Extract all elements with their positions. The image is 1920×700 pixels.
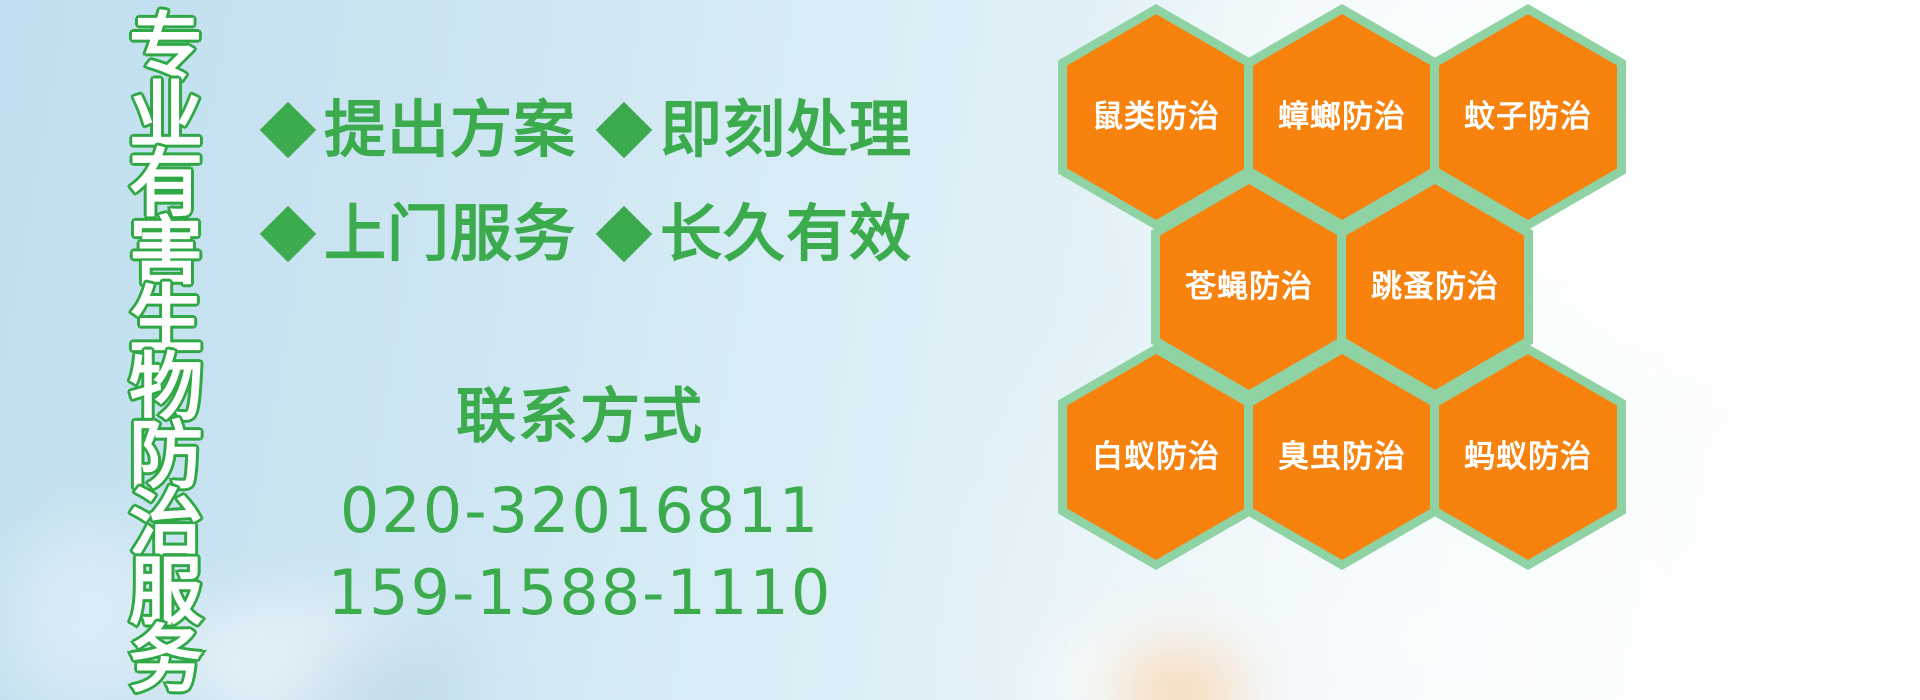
feature-label: 长久有效 [660, 203, 912, 265]
contact-block: 联系方式 020-32016811 159-1588-1110 [290, 382, 870, 634]
diamond-bullet-icon [260, 102, 317, 159]
feature-label: 即刻处理 [660, 99, 912, 161]
hex-fill: 鼠类防治 [1067, 14, 1245, 220]
headline-char: 务 [129, 626, 203, 694]
promo-banner: 专 业 有 害 生 物 防 治 服 务 提出方案 即刻处理 上门服务 [0, 0, 1920, 700]
feature-row: 上门服务 长久有效 [268, 182, 888, 286]
headline-char: 物 [129, 354, 203, 422]
feature-item-immediate-handling: 即刻处理 [604, 99, 912, 161]
feature-item-onsite-service: 上门服务 [268, 203, 576, 265]
service-label: 鼠类防治 [1092, 100, 1220, 134]
service-label: 跳蚤防治 [1371, 270, 1499, 304]
feature-row: 提出方案 即刻处理 [268, 78, 888, 182]
service-label: 苍蝇防治 [1185, 270, 1313, 304]
headline-char: 有 [129, 150, 203, 218]
headline-char: 生 [129, 286, 203, 354]
service-honeycomb: 鼠类防治 蟑螂防治 蚊子防治 苍蝇防治 跳蚤防治 白蚁防治 [1058, 0, 1678, 688]
feature-item-long-lasting: 长久有效 [604, 203, 912, 265]
vertical-headline: 专 业 有 害 生 物 防 治 服 务 [112, 14, 220, 700]
phone-number-landline[interactable]: 020-32016811 [290, 470, 870, 552]
diamond-bullet-icon [260, 206, 317, 263]
background-blob [300, 640, 460, 700]
hex-fill: 蚂蚁防治 [1439, 354, 1617, 560]
diamond-bullet-icon [596, 206, 653, 263]
hex-fill: 苍蝇防治 [1160, 184, 1338, 390]
headline-char: 防 [129, 422, 203, 490]
headline-char: 治 [129, 490, 203, 558]
headline-char: 服 [129, 558, 203, 626]
hex-fill: 蚊子防治 [1439, 14, 1617, 220]
service-label: 白蚁防治 [1092, 440, 1220, 474]
feature-label: 提出方案 [324, 99, 576, 161]
headline-char: 业 [129, 82, 203, 150]
headline-char: 害 [129, 218, 203, 286]
hex-fill: 蟑螂防治 [1253, 14, 1431, 220]
feature-item-propose-plan: 提出方案 [268, 99, 576, 161]
service-label: 蚂蚁防治 [1464, 440, 1592, 474]
service-label: 臭虫防治 [1278, 440, 1406, 474]
hex-fill: 臭虫防治 [1253, 354, 1431, 560]
service-label: 蟑螂防治 [1278, 100, 1406, 134]
headline-char: 专 [129, 14, 203, 82]
phone-number-mobile[interactable]: 159-1588-1110 [290, 552, 870, 634]
feature-label: 上门服务 [324, 203, 576, 265]
contact-heading: 联系方式 [290, 382, 870, 452]
feature-list: 提出方案 即刻处理 上门服务 长久有效 [268, 78, 888, 286]
service-label: 蚊子防治 [1464, 100, 1592, 134]
hex-fill: 跳蚤防治 [1346, 184, 1524, 390]
diamond-bullet-icon [596, 102, 653, 159]
hex-fill: 白蚁防治 [1067, 354, 1245, 560]
